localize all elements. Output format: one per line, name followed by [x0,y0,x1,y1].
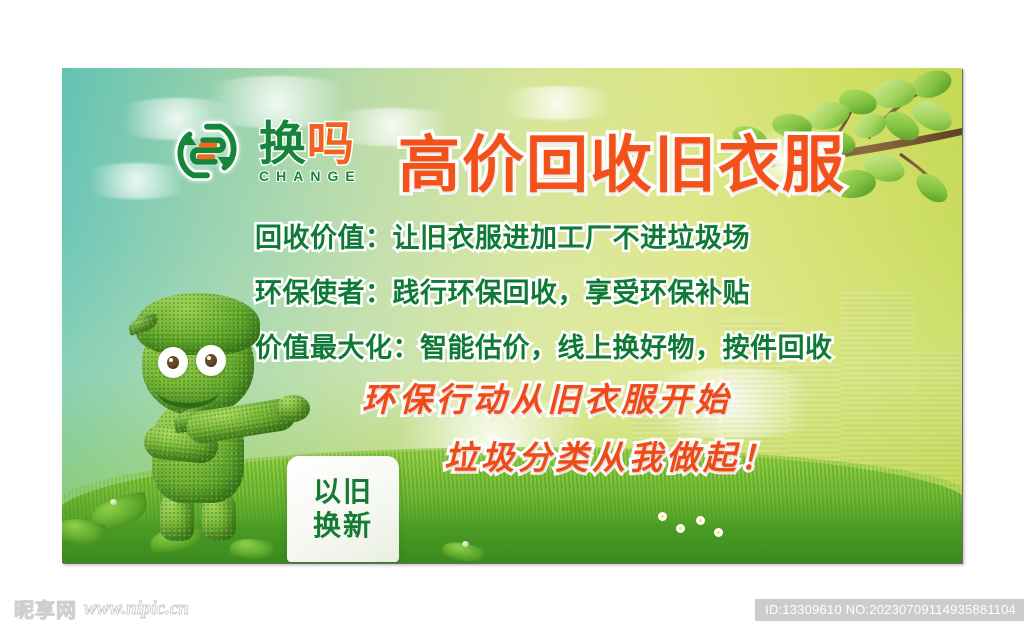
bullet-item: 价值最大化：智能估价，线上换好物，按件回收 [255,326,833,365]
site-watermark: 昵享网 www.nipic.cn [14,594,189,623]
bullet-list: 回收价值：让旧衣服进加工厂不进垃圾场 环保使者：践行环保回收，享受环保补贴 价值… [255,216,833,365]
slogan-list: 环保行动从旧衣服开始 垃圾分类从我做起！ [362,373,777,479]
site-watermark-name: 昵享网 [14,594,77,623]
sign-line-2: 换新 [313,510,373,542]
mascot-eye-right [196,345,226,376]
recycle-arrows-icon [168,115,246,187]
slogan-item: 环保行动从旧衣服开始 [362,373,777,421]
slogan-item: 垃圾分类从我做起！ [444,431,777,479]
daisy-flower [714,528,723,537]
mascot-character [124,273,314,543]
brand-name-cn: 换吗 [259,120,355,167]
mascot-smile [157,373,219,408]
daisy-flower [658,512,667,521]
dew-drop [462,541,469,547]
bullet-item: 环保使者：践行环保回收，享受环保补贴 [255,271,833,310]
trade-in-sign: 以旧 换新 [287,456,399,562]
mascot-hand [276,395,310,422]
daisy-flower [676,524,685,533]
brand-wordmark: 换吗 CHANGE [252,120,362,183]
asset-id-badge: ID:13309610 NO:20230709114935881104 [755,599,1024,621]
sign-line-1: 以旧 [313,476,373,508]
brand-name-en: CHANGE [252,169,362,183]
dew-drop [110,499,117,505]
site-watermark-url: www.nipic.cn [84,598,189,620]
daisy-flower [696,516,705,525]
brand-name-orange: 吗 [307,117,355,170]
brand-name-green: 换 [259,117,307,170]
poster-artwork: 换吗 CHANGE 高价回收旧衣服 回收价值：让旧衣服进加工厂不进垃圾场 环保使… [62,68,962,563]
headline: 高价回收旧衣服 [398,114,846,204]
bullet-item: 回收价值：让旧衣服进加工厂不进垃圾场 [255,216,833,255]
brand-logo: 换吗 CHANGE [168,115,362,187]
